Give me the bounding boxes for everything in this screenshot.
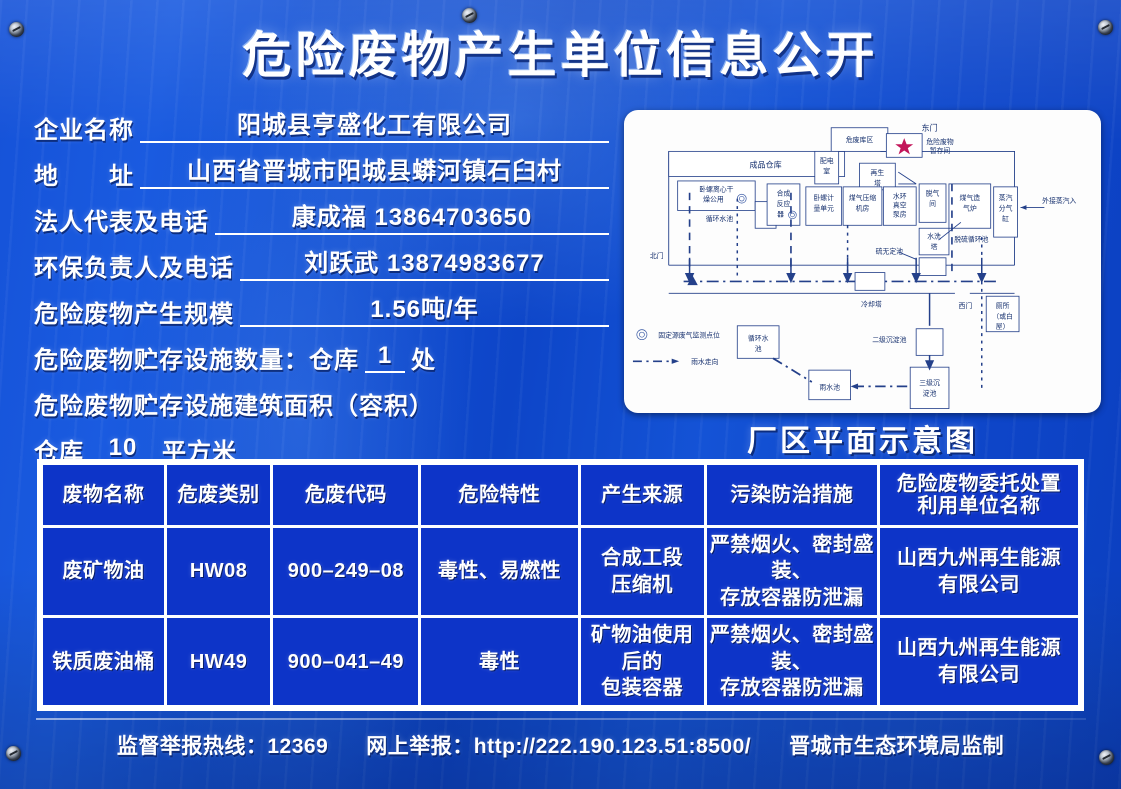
diagram-label-toilet-1: 厕所 (996, 301, 1010, 310)
suffix-storage-count: 处 (411, 349, 436, 373)
screw-bottom-right (1099, 750, 1114, 765)
diagram-label-circ-pool-1: 循环水 (748, 334, 769, 343)
diagram-label-2nd-settling: 二级沉淀池 (872, 335, 906, 344)
diagram-label-centrifuge-1: 卧螺离心干 (699, 184, 733, 193)
diagram-label-north-gate: 北门 (650, 251, 664, 260)
cell-waste-name: 铁质废油桶 (43, 618, 164, 705)
cell-waste-code: 900–041–49 (273, 618, 418, 705)
label-address: 地 址 (34, 165, 134, 189)
diagram-legend: 固定源废气监测点位 雨水走向 (633, 330, 720, 367)
info-row-enterprise-name: 企业名称 阳城县亨盛化工有限公司 (34, 108, 609, 143)
cell-waste-category: HW49 (167, 618, 270, 705)
value-enterprise-name: 阳城县亨盛化工有限公司 (140, 114, 609, 143)
diagram-legend-text-2: 雨水走向 (691, 357, 719, 366)
footer-divider (36, 718, 1086, 720)
label-enterprise-name: 企业名称 (34, 119, 134, 143)
diagram-label-cooling-tower: 冷却塔 (861, 300, 882, 309)
table-header-row: 废物名称 危废类别 危废代码 危险特性 产生来源 污染防治措施 危险废物委托处置… (43, 465, 1078, 525)
cell-entrusted-unit-line1: 山西九州再生能源 (882, 635, 1076, 661)
cell-source-line1: 合成工段 (583, 545, 702, 571)
value-address: 山西省晋城市阳城县蟒河镇石臼村 (140, 160, 609, 189)
table-header-entrusted-unit-line1: 危险废物委托处置 (882, 473, 1076, 495)
diagram-label-3rd-settling-1: 三级沉 (919, 378, 940, 387)
diagram-label-degas-1: 脱气 (926, 189, 940, 198)
information-board: 危险废物产生单位信息公开 企业名称 阳城县亨盛化工有限公司 地 址 山西省晋城市… (0, 0, 1121, 789)
diagram-label-vacuum-3: 泵房 (893, 209, 907, 218)
diagram-label-east-gate: 东门 (922, 123, 938, 133)
label-legal-representative: 法人代表及电话 (34, 211, 209, 235)
diagram-label-power-room-2: 室 (823, 167, 830, 176)
cell-measures-line2: 存放容器防泄漏 (709, 675, 875, 701)
label-environment-officer: 环保负责人及电话 (34, 257, 234, 281)
diagram-label-vacuum-1: 水环 (893, 192, 907, 201)
table-row: 废矿物油 HW08 900–249–08 毒性、易燃性 合成工段 压缩机 严禁烟… (43, 528, 1078, 615)
info-row-waste-scale: 危险废物产生规模 1.56吨/年 (34, 292, 609, 327)
diagram-label-steam-3: 缸 (1002, 214, 1009, 223)
value-legal-representative: 康成福 13864703650 (215, 206, 609, 235)
board-title: 危险废物产生单位信息公开 (0, 32, 1121, 81)
diagram-label-external-steam: 外接蒸汽入 (1042, 196, 1076, 205)
cell-measures-line1: 严禁烟火、密封盛装、 (709, 532, 875, 585)
screw-top-right (1098, 20, 1113, 35)
cell-entrusted-unit: 山西九州再生能源 有限公司 (880, 528, 1078, 615)
table-header-entrusted-unit: 危险废物委托处置 利用单位名称 (880, 465, 1078, 525)
diagram-label-vacuum-2: 真空 (893, 201, 907, 210)
cell-hazard-property: 毒性、易燃性 (421, 528, 577, 615)
diagram-label-toilet-2: （或白 (992, 311, 1013, 320)
diagram-label-reactor-3: 器 (777, 210, 784, 218)
screw-top-middle (462, 8, 477, 23)
diagram-label-regen-2: 塔 (874, 178, 881, 187)
info-row-storage-count: 危险废物贮存设施数量：仓库 1 处 (34, 338, 609, 373)
diagram-label-warehouse: 成品仓库 (750, 160, 782, 170)
cell-measures-line1: 严禁烟火、密封盛装、 (709, 622, 875, 675)
diagram-label-reactor-2: 反应 (777, 199, 791, 208)
table-header-source: 产生来源 (581, 465, 704, 525)
cell-source: 矿物油使用后的 包装容器 (581, 618, 704, 705)
table-header-waste-code: 危废代码 (273, 465, 418, 525)
cell-source-line2: 压缩机 (583, 572, 702, 598)
diagram-label-hw-storage-1: 危险废物 (926, 137, 954, 146)
diagram-label-furnace-2: 气炉 (963, 204, 977, 213)
diagram-label-centrifuge-2: 燥公用 (703, 195, 724, 204)
diagram-label-rain-pool: 雨水池 (819, 382, 840, 391)
cell-source: 合成工段 压缩机 (581, 528, 704, 615)
table-header-waste-category: 危废类别 (167, 465, 270, 525)
footer-authority: 晋城市生态环境局监制 (789, 730, 1004, 760)
diagram-label-steam-1: 蒸汽 (999, 193, 1013, 202)
cell-hazard-property: 毒性 (421, 618, 577, 705)
diagram-label-meter-1: 卧螺计 (813, 193, 834, 202)
cell-waste-code: 900–249–08 (273, 528, 418, 615)
label-storage-count: 危险废物贮存设施数量：仓库 (34, 349, 359, 373)
info-row-environment-officer: 环保负责人及电话 刘跃武 13874983677 (34, 246, 609, 281)
cell-waste-category: HW08 (167, 528, 270, 615)
diagram-label-toilet-3: 屋） (996, 323, 1010, 331)
footer-hotline: 监督举报热线：12369 (117, 730, 328, 760)
screw-top-left (9, 22, 24, 37)
value-waste-scale: 1.56吨/年 (240, 298, 609, 327)
diagram-label-circ-pool-top: 循环水池 (706, 214, 734, 223)
value-storage-count: 1 (365, 344, 405, 373)
diagram-label-waste-area: 危废库区 (846, 135, 874, 144)
diagram-label-furnace-1: 煤气造 (960, 193, 981, 202)
plant-layout-svg: 成品仓库 危废库区 配电 室 东门 危险废物 暂存间 再生 塔 (624, 110, 1101, 413)
diagram-label-steam-2: 分气 (999, 204, 1013, 213)
board-footer: 监督举报热线：12369 网上举报：http://222.190.123.51:… (0, 730, 1121, 760)
info-row-address: 地 址 山西省晋城市阳城县蟒河镇石臼村 (34, 154, 609, 189)
label-storage-area: 危险废物贮存设施建筑面积（容积） (34, 395, 434, 419)
cell-entrusted-unit: 山西九州再生能源 有限公司 (880, 618, 1078, 705)
diagram-legend-text-1: 固定源废气监测点位 (658, 331, 720, 340)
cell-entrusted-unit-line2: 有限公司 (882, 572, 1076, 598)
plant-layout-diagram: 成品仓库 危废库区 配电 室 东门 危险废物 暂存间 再生 塔 (624, 110, 1101, 413)
diagram-label-compressor-2: 机房 (856, 204, 870, 213)
table-header-entrusted-unit-line2: 利用单位名称 (882, 495, 1076, 517)
diagram-label-3rd-settling-2: 淀池 (923, 388, 937, 397)
cell-source-line1: 矿物油使用后的 (583, 622, 702, 675)
enterprise-info-block: 企业名称 阳城县亨盛化工有限公司 地 址 山西省晋城市阳城县蟒河镇石臼村 法人代… (34, 108, 609, 476)
diagram-label-degas-2: 间 (929, 200, 936, 208)
info-row-legal-representative: 法人代表及电话 康成福 13864703650 (34, 200, 609, 235)
table-header-waste-name: 废物名称 (43, 465, 164, 525)
footer-online-report: 网上举报：http://222.190.123.51:8500/ (366, 730, 751, 760)
table-row: 铁质废油桶 HW49 900–041–49 毒性 矿物油使用后的 包装容器 严禁… (43, 618, 1078, 705)
cell-source-line2: 包装容器 (583, 675, 702, 701)
cell-measures-line2: 存放容器防泄漏 (709, 585, 875, 611)
diagram-label-circ-pool-2: 池 (755, 344, 762, 353)
label-waste-scale: 危险废物产生规模 (34, 303, 234, 327)
diagram-caption: 厂区平面示意图 (624, 416, 1101, 460)
diagram-label-reactor-1: 合成 (777, 189, 791, 198)
diagram-label-regen-1: 再生 (871, 168, 885, 177)
diagram-label-washtower-2: 塔 (931, 242, 938, 251)
diagram-label-sulfur-pool: 硫无定池 (876, 246, 904, 255)
diagram-label-power-room-1: 配电 (820, 156, 834, 165)
table-header-measures: 污染防治措施 (707, 465, 877, 525)
diagram-label-desulf-pool: 脱硫循环池 (954, 235, 988, 244)
diagram-label-west-gate: 西门 (959, 301, 973, 310)
screw-bottom-left (6, 746, 21, 761)
cell-waste-name: 废矿物油 (43, 528, 164, 615)
diagram-label-compressor-1: 煤气压缩 (849, 193, 877, 202)
diagram-label-hw-storage-2: 暂存间 (930, 146, 951, 155)
table-header-hazard-property: 危险特性 (421, 465, 577, 525)
hazardous-waste-table: 废物名称 危废类别 危废代码 危险特性 产生来源 污染防治措施 危险废物委托处置… (37, 459, 1084, 711)
cell-measures: 严禁烟火、密封盛装、 存放容器防泄漏 (707, 618, 877, 705)
cell-entrusted-unit-line2: 有限公司 (882, 662, 1076, 688)
cell-measures: 严禁烟火、密封盛装、 存放容器防泄漏 (707, 528, 877, 615)
info-row-storage-area-label: 危险废物贮存设施建筑面积（容积） (34, 384, 609, 419)
plant-layout-canvas: 成品仓库 危废库区 配电 室 东门 危险废物 暂存间 再生 塔 (624, 110, 1101, 413)
value-environment-officer: 刘跃武 13874983677 (240, 252, 609, 281)
diagram-label-meter-2: 量单元 (813, 204, 834, 213)
cell-entrusted-unit-line1: 山西九州再生能源 (882, 545, 1076, 571)
